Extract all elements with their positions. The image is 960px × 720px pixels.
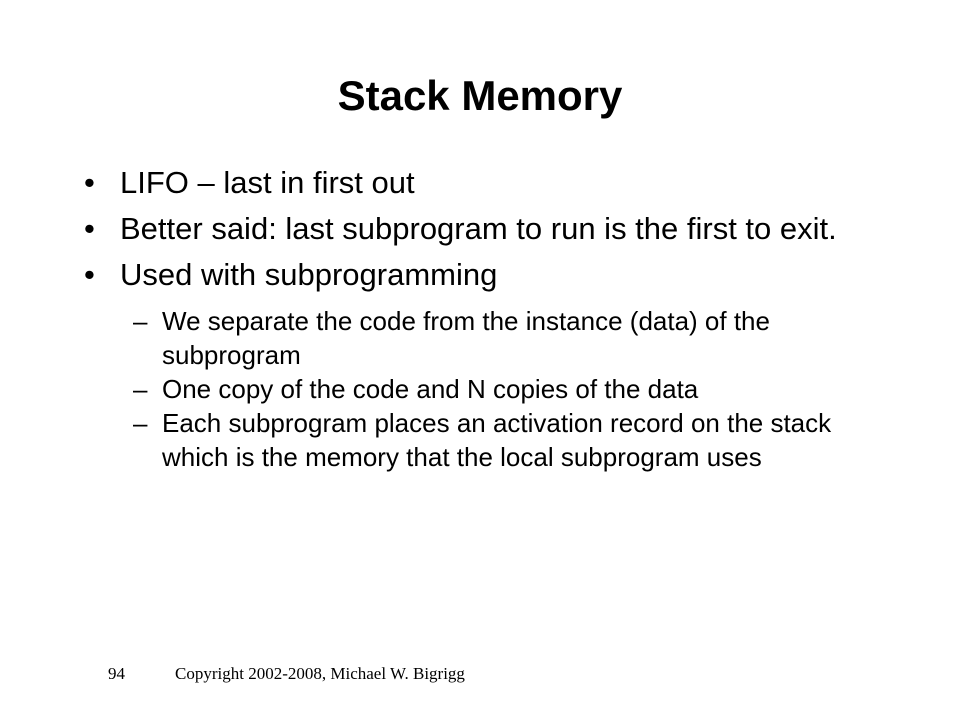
bullet-text: LIFO – last in first out: [120, 160, 902, 206]
slide-title: Stack Memory: [0, 72, 960, 120]
bullet-item-lifo: • LIFO – last in first out: [72, 160, 902, 206]
sub-bullet-item-activation-record: – Each subprogram places an activation r…: [72, 406, 902, 474]
sub-bullet-text: We separate the code from the instance (…: [162, 304, 852, 372]
bullet-text: Better said: last subprogram to run is t…: [120, 206, 902, 252]
sub-bullet-group: – We separate the code from the instance…: [72, 304, 902, 474]
bullet-item-used-with-subprogramming: • Used with subprogramming: [72, 252, 902, 298]
bullet-dot-icon: •: [84, 252, 104, 298]
sub-bullet-text: Each subprogram places an activation rec…: [162, 406, 852, 474]
page-number: 94: [108, 662, 125, 686]
slide: Stack Memory • LIFO – last in first out …: [0, 0, 960, 720]
slide-footer: 94 Copyright 2002-2008, Michael W. Bigri…: [0, 662, 960, 686]
bullet-text: Used with subprogramming: [120, 252, 902, 298]
dash-marker-icon: –: [133, 406, 147, 440]
slide-body-content: • LIFO – last in first out • Better said…: [72, 160, 902, 474]
bullet-dot-icon: •: [84, 160, 104, 206]
bullet-dot-icon: •: [84, 206, 104, 252]
sub-bullet-item-one-copy: – One copy of the code and N copies of t…: [72, 372, 902, 406]
sub-bullet-item-separate-code: – We separate the code from the instance…: [72, 304, 902, 372]
sub-bullet-text: One copy of the code and N copies of the…: [162, 372, 852, 406]
copyright-notice: Copyright 2002-2008, Michael W. Bigrigg: [175, 662, 465, 686]
dash-marker-icon: –: [133, 372, 147, 406]
dash-marker-icon: –: [133, 304, 147, 338]
bullet-item-better-said: • Better said: last subprogram to run is…: [72, 206, 902, 252]
